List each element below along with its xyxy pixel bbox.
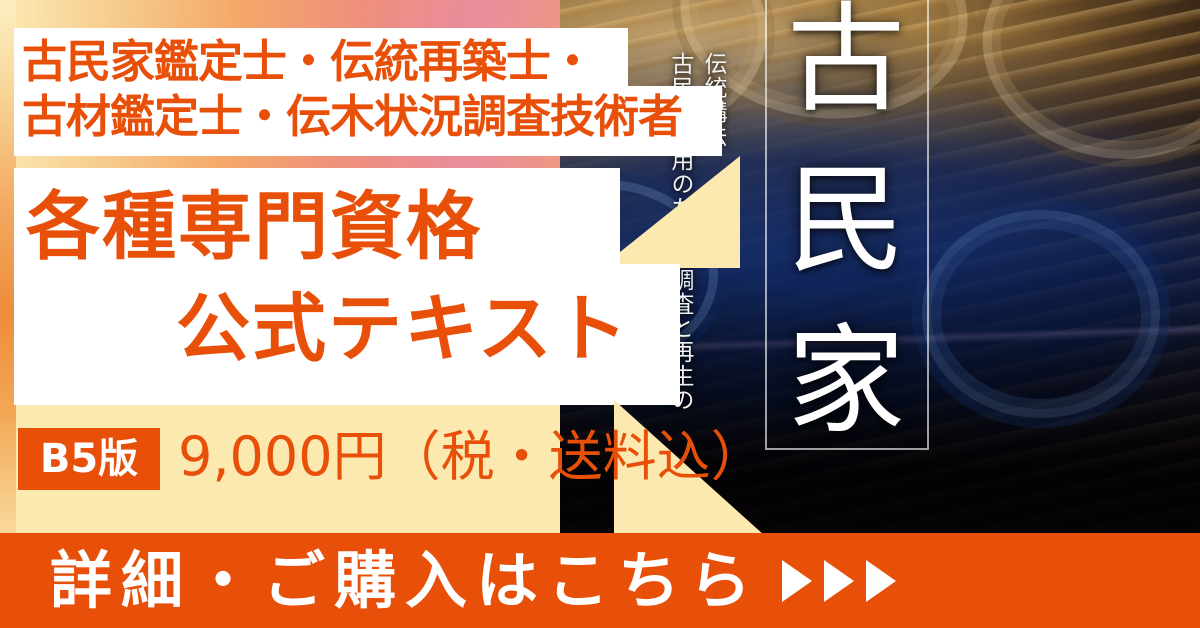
headline-line-2: 公式テキスト [176, 292, 630, 366]
triangle-right-icon [824, 560, 854, 602]
book-title-char-3: 家 [787, 324, 905, 442]
cta-arrow-group [782, 560, 896, 602]
triangle-right-icon [866, 560, 896, 602]
promo-banner[interactable]: 古 民 家 伝統構法 古民家活用のための調査と再生の 古民家鑑定士・伝統再築士・… [0, 0, 1200, 628]
credentials-line-2: 古材鑑定士・伝木状況調査技術者 [22, 94, 682, 139]
price-text: 9,000円（税・送料込） [178, 430, 765, 484]
headline-line-1: 各種専門資格 [26, 190, 482, 264]
cta-label: 詳細・ご購入はこちら [50, 550, 760, 612]
cta-bar[interactable]: 詳細・ご購入はこちら [0, 533, 1200, 628]
book-cover-title: 古 民 家 [773, 2, 919, 442]
wave-swirl-decoration [922, 210, 1160, 418]
book-title-char-1: 古 [787, 2, 905, 120]
format-badge: B5版 [18, 428, 160, 490]
triangle-right-icon [782, 560, 812, 602]
book-title-char-2: 民 [787, 163, 905, 281]
credentials-line-1: 古民家鑑定士・伝統再築士・ [22, 39, 594, 84]
